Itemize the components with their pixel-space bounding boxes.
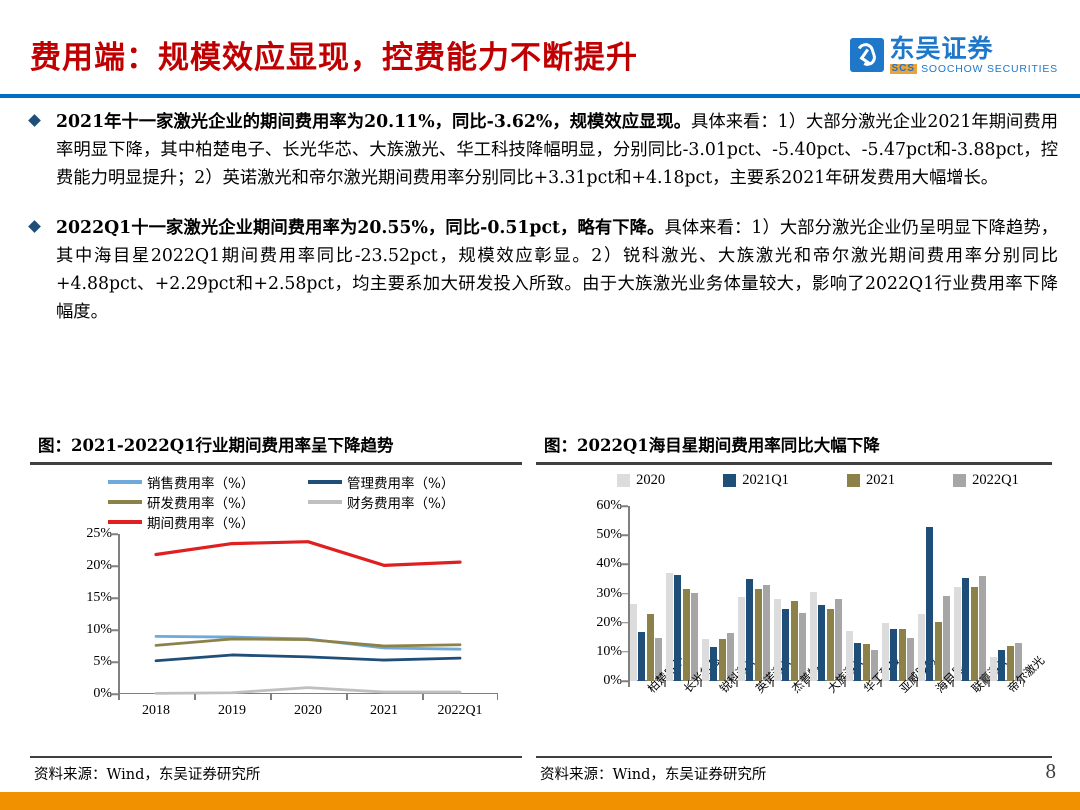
bullet-item: 2022Q1十一家激光企业期间费用率为20.55%，同比-0.51pct，略有下… [26,214,1058,326]
x-axis-tick [952,681,954,687]
bar [683,589,690,681]
y-axis-tick [622,534,628,536]
x-axis-category-label: 2020 [294,703,322,719]
legend-item[interactable]: 2021Q1 [723,472,789,489]
bullet-paragraph: 2021年十一家激光企业的期间费用率为20.11%，同比-3.62%，规模效应显… [56,108,1058,192]
header-divider [0,94,1080,98]
panel-top-divider [30,462,522,465]
bar [710,647,717,681]
legend-label: 2021Q1 [742,472,789,489]
bar [954,587,961,681]
chart-panel-bar: 图：2022Q1海目星期间费用率同比大幅下降 20202021Q12021202… [536,430,1052,788]
legend-label: 管理费用率（%） [347,472,454,492]
bar [810,592,817,681]
y-axis-tick-label: 20% [86,558,112,574]
bar [899,629,906,681]
bullet-diamond-icon [28,114,41,127]
x-axis-tick [194,694,196,700]
bullet-item: 2021年十一家激光企业的期间费用率为20.11%，同比-3.62%，规模效应显… [26,108,1058,192]
line-series-svg [118,534,498,694]
x-axis-tick [844,681,846,687]
soochow-logo-icon [850,38,884,72]
legend-color-swatch [308,480,342,484]
y-axis-tick [112,597,118,599]
x-axis-category-label: 2019 [218,703,246,719]
legend-item[interactable]: 2020 [617,472,665,489]
bar [971,587,978,681]
bar [882,623,889,681]
legend-item[interactable]: 管理费用率（%） [308,472,508,492]
bar [818,605,825,681]
x-axis-tick [118,694,120,700]
bar [647,614,654,681]
y-axis-tick-label: 40% [596,556,622,572]
x-axis-category-label: 2022Q1 [437,703,482,719]
y-axis-tick [622,564,628,566]
bar [666,573,673,682]
logo-subtitle: SCS SOOCHOW SECURITIES [890,64,1058,75]
x-axis-tick [772,681,774,687]
x-axis-tick [628,681,630,687]
bar [791,601,798,681]
bullet-paragraph: 2022Q1十一家激光企业期间费用率为20.55%，同比-0.51pct，略有下… [56,214,1058,326]
bar [854,643,861,682]
x-axis-tick [736,681,738,687]
legend-color-swatch [308,500,342,504]
legend-label: 财务费用率（%） [347,492,454,512]
bar [962,578,969,681]
y-axis-tick-label: 25% [86,526,112,542]
bar-group [808,592,844,681]
y-axis-tick [622,505,628,507]
x-axis-tick [808,681,810,687]
slide: 费用端：规模效应显现，控费能力不断提升 东吴证券 SCS SOOCHOW SEC… [0,0,1080,810]
legend-item[interactable]: 期间费用率（%） [108,512,308,532]
legend-color-swatch [617,474,630,487]
legend-item[interactable]: 研发费用率（%） [108,492,308,512]
y-axis-tick [622,593,628,595]
bar-group [952,576,988,681]
panel-bottom-divider [536,756,1052,758]
legend-label: 销售费用率（%） [147,472,254,492]
legend-color-swatch [108,520,142,524]
legend-bar-chart: 20202021Q120212022Q1 [588,472,1048,489]
legend-color-swatch [108,500,142,504]
y-axis-tick-label: 0% [93,686,112,702]
chart-panel-line: 图：2021-2022Q1行业期间费用率呈下降趋势 销售费用率（%）管理费用率（… [30,430,522,788]
bullet-lead: 2021年十一家激光企业的期间费用率为20.11%，同比-3.62%，规模效应显… [56,112,691,132]
legend-color-swatch [108,480,142,484]
y-axis-tick [112,565,118,567]
legend-item[interactable]: 2022Q1 [953,472,1019,489]
legend-label: 研发费用率（%） [147,492,254,512]
source-note-right: 资料来源：Wind，东吴证券研究所 [540,763,766,784]
bar [827,609,834,681]
bar [990,657,997,681]
y-axis-tick-label: 15% [86,590,112,606]
bar [638,632,645,681]
bar [630,604,637,681]
bar [755,589,762,681]
bar [918,614,925,681]
y-axis-tick-label: 10% [596,644,622,660]
line-series [156,542,460,566]
legend-item[interactable]: 2021 [847,472,895,489]
x-axis-category-label: 2018 [142,703,170,719]
body-text: 2021年十一家激光企业的期间费用率为20.11%，同比-3.62%，规模效应显… [26,108,1058,348]
x-axis-category-label: 2021 [370,703,398,719]
brand-logo: 东吴证券 SCS SOOCHOW SECURITIES [850,36,1058,75]
legend-label: 2021 [866,472,895,489]
panel-bottom-divider [30,756,522,758]
chart-title-line: 图：2021-2022Q1行业期间费用率呈下降趋势 [30,430,522,462]
legend-color-swatch [723,474,736,487]
y-axis-tick-label: 0% [603,673,622,689]
x-axis-tick [880,681,882,687]
bar [846,631,853,681]
bar [782,609,789,681]
logo-chinese-name: 东吴证券 [890,36,1058,61]
y-axis-tick [112,533,118,535]
bar [774,599,781,681]
bar [926,527,933,681]
source-note-left: 资料来源：Wind，东吴证券研究所 [34,763,260,784]
y-axis-tick-label: 30% [596,586,622,602]
bar [979,576,986,681]
bullet-diamond-icon [28,220,41,233]
slide-header: 费用端：规模效应显现，控费能力不断提升 东吴证券 SCS SOOCHOW SEC… [0,0,1080,98]
y-axis-tick [112,661,118,663]
bar [998,650,1005,681]
line-series [156,688,460,694]
line-plot-area: 0%5%10%15%20%25%20182019202020212022Q1 [118,534,498,694]
y-axis-tick-label: 20% [596,615,622,631]
bar [935,622,942,681]
y-axis-tick [112,629,118,631]
logo-text: 东吴证券 SCS SOOCHOW SECURITIES [890,36,1058,75]
y-axis-tick-label: 5% [93,654,112,670]
x-axis-tick [422,694,424,700]
bar [674,575,681,681]
bar-group [916,527,952,681]
panel-top-divider [536,462,1052,465]
bar [738,597,745,681]
bar-group [664,573,700,682]
page-number: 8 [1046,759,1057,784]
y-axis-tick-label: 50% [596,527,622,543]
legend-color-swatch [847,474,860,487]
legend-line-chart: 销售费用率（%）管理费用率（%）研发费用率（%）财务费用率（%）期间费用率（%） [108,472,508,532]
bar [702,639,709,681]
legend-item[interactable]: 财务费用率（%） [308,492,508,512]
legend-label: 2022Q1 [972,472,1019,489]
bar-group [736,579,772,681]
bar [746,579,753,681]
y-axis-tick-label: 10% [86,622,112,638]
bar-plot-area: 0%10%20%30%40%50%60%柏楚电子长光华芯锐科激光英诺激光杰普特大… [628,506,1024,681]
x-axis-tick [664,681,666,687]
x-axis-tick [916,681,918,687]
line-series [156,655,460,661]
x-axis-tick [700,681,702,687]
legend-label: 2020 [636,472,665,489]
logo-scs-badge: SCS [890,64,918,74]
bar [890,629,897,682]
legend-item[interactable]: 销售费用率（%） [108,472,308,492]
legend-color-swatch [953,474,966,487]
x-axis-tick [497,694,499,700]
y-axis-tick-label: 60% [596,498,622,514]
x-axis-tick [1023,681,1025,687]
page-title: 费用端：规模效应显现，控费能力不断提升 [30,32,638,77]
legend-label: 期间费用率（%） [147,512,254,532]
x-axis-tick [270,694,272,700]
bottom-accent-bar [0,792,1080,810]
x-axis-tick [988,681,990,687]
logo-english-name: SOOCHOW SECURITIES [921,64,1058,75]
line-series [156,639,460,646]
chart-title-bar: 图：2022Q1海目星期间费用率同比大幅下降 [536,430,1052,462]
bullet-lead: 2022Q1十一家激光企业期间费用率为20.55%，同比-0.51pct，略有下… [56,218,664,238]
x-axis-tick [346,694,348,700]
